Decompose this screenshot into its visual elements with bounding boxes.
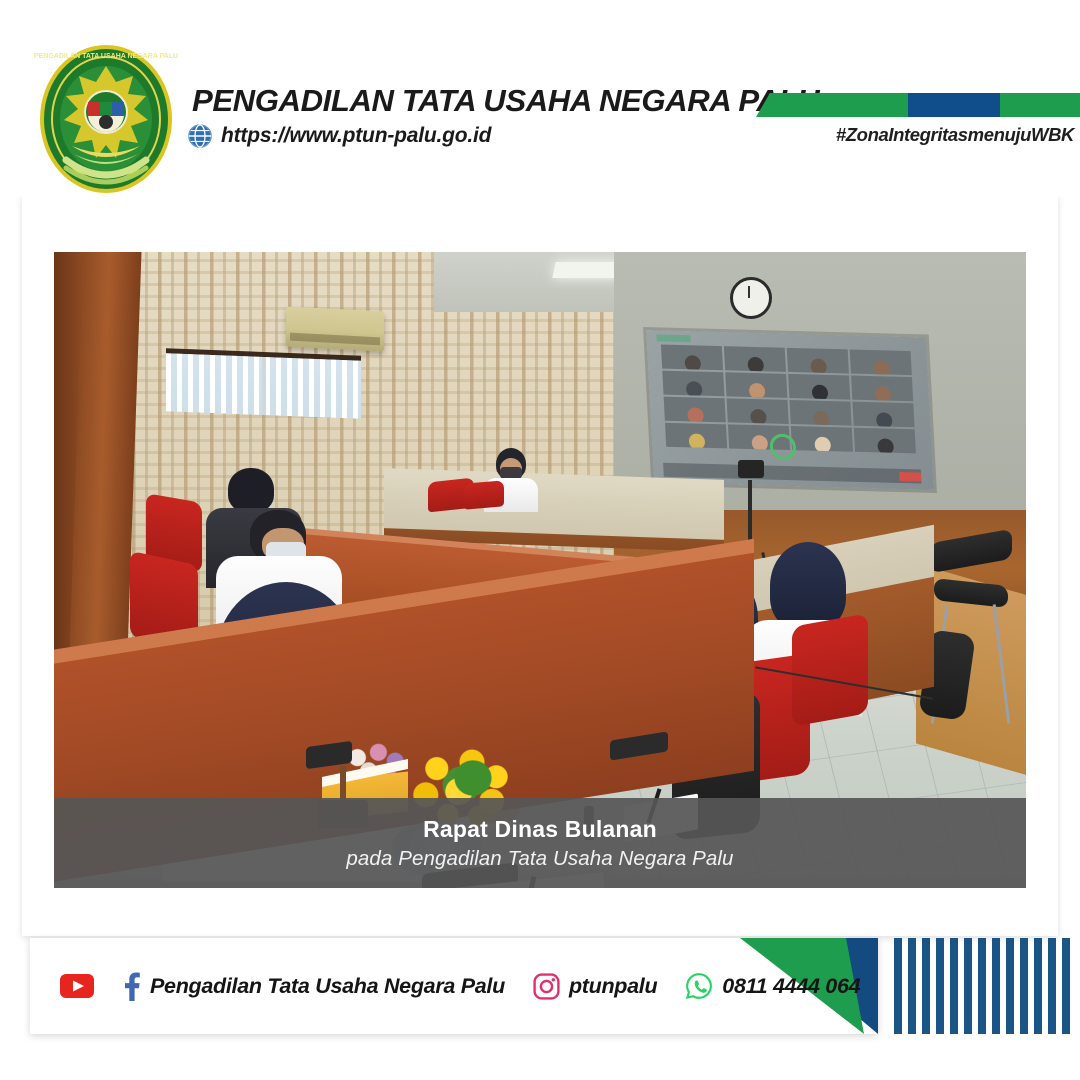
air-conditioner bbox=[286, 306, 384, 351]
facebook-label: Pengadilan Tata Usaha Negara Palu bbox=[150, 974, 505, 999]
zoom-tile bbox=[664, 397, 726, 423]
instagram-item[interactable]: ptunpalu bbox=[533, 973, 657, 1000]
whatsapp-icon[interactable] bbox=[685, 972, 713, 1000]
wall-clock bbox=[730, 277, 772, 319]
zoom-meeting-label bbox=[656, 334, 690, 342]
poster-canvas: PENGADILAN TATA USAHA NEGARA PALU PENGAD… bbox=[0, 0, 1080, 1080]
zoom-tile bbox=[727, 398, 789, 424]
globe-icon bbox=[188, 124, 212, 148]
page-title: PENGADILAN TATA USAHA NEGARA PALU bbox=[192, 84, 819, 119]
flower-leaves bbox=[452, 758, 494, 798]
hair bbox=[228, 468, 274, 512]
projection-screen bbox=[646, 330, 934, 490]
zoom-tile bbox=[852, 402, 914, 428]
youtube-item[interactable] bbox=[60, 974, 103, 998]
zoom-tile bbox=[724, 346, 786, 372]
zoom-tile bbox=[725, 372, 787, 398]
wbk-hashtag: #ZonaIntegritasmenujuWBK bbox=[836, 124, 1074, 146]
header: PENGADILAN TATA USAHA NEGARA PALU PENGAD… bbox=[0, 0, 1080, 196]
zoom-tile bbox=[850, 349, 912, 375]
window-divider bbox=[262, 357, 266, 415]
zoom-tile bbox=[665, 423, 727, 449]
zoom-tile bbox=[661, 345, 723, 371]
youtube-icon[interactable] bbox=[60, 974, 94, 998]
facebook-icon[interactable] bbox=[123, 971, 141, 1001]
camera-head bbox=[738, 460, 764, 478]
social-media-row: Pengadilan Tata Usaha Negara Palu ptunpa… bbox=[60, 938, 860, 1034]
instagram-label: ptunpalu bbox=[569, 974, 657, 999]
whatsapp-label: 0811 4444 064 bbox=[722, 974, 860, 999]
zoom-tile bbox=[662, 371, 724, 397]
window bbox=[166, 348, 361, 418]
whatsapp-item[interactable]: 0811 4444 064 bbox=[685, 972, 860, 1000]
ptun-palu-seal-icon: PENGADILAN TATA USAHA NEGARA PALU bbox=[32, 42, 180, 197]
zoom-tile bbox=[787, 348, 849, 374]
website-row[interactable]: https://www.ptun-palu.go.id bbox=[188, 124, 491, 148]
footer-card: Pengadilan Tata Usaha Negara Palu ptunpa… bbox=[30, 938, 878, 1034]
zoom-tile bbox=[791, 426, 853, 452]
zoom-tile bbox=[854, 428, 916, 454]
zoom-tile bbox=[851, 376, 913, 402]
photo-scene: Rapat Dinas Bulanan pada Pengadilan Tata… bbox=[54, 252, 1026, 888]
zoom-end-button bbox=[899, 472, 921, 482]
seal-ring-text: PENGADILAN TATA USAHA NEGARA PALU bbox=[34, 53, 178, 60]
caption-subtitle: pada Pengadilan Tata Usaha Negara Palu bbox=[346, 847, 733, 871]
caption-title: Rapat Dinas Bulanan bbox=[423, 816, 657, 843]
photo-caption: Rapat Dinas Bulanan pada Pengadilan Tata… bbox=[54, 798, 1026, 888]
zoom-tile bbox=[789, 400, 851, 426]
red-chair-back bbox=[464, 480, 504, 509]
hijab bbox=[770, 542, 846, 630]
court-logo: PENGADILAN TATA USAHA NEGARA PALU bbox=[32, 42, 180, 197]
header-accent-bar bbox=[756, 93, 1080, 117]
instagram-icon[interactable] bbox=[533, 973, 560, 1000]
website-url[interactable]: https://www.ptun-palu.go.id bbox=[221, 124, 491, 148]
facebook-item[interactable]: Pengadilan Tata Usaha Negara Palu bbox=[123, 971, 505, 1001]
event-photo: Rapat Dinas Bulanan pada Pengadilan Tata… bbox=[54, 252, 1026, 888]
red-chair bbox=[792, 613, 868, 726]
zoom-tile bbox=[788, 374, 850, 400]
decorative-stripes bbox=[894, 938, 1080, 1036]
